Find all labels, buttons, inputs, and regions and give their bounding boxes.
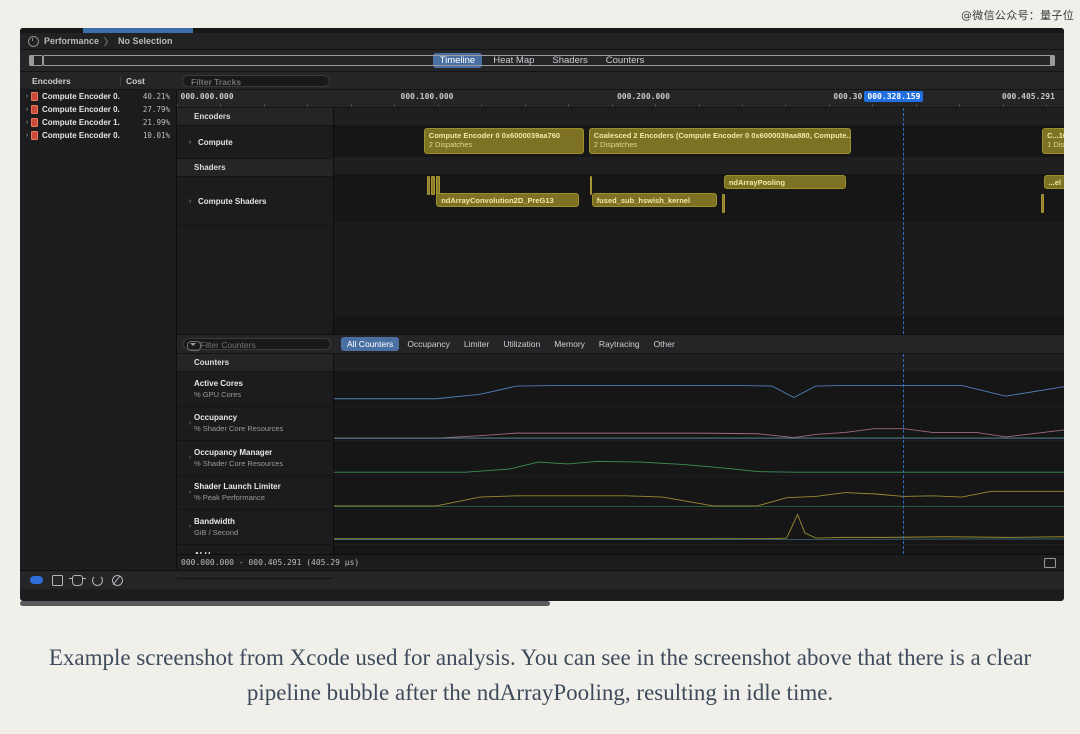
disclosure-icon[interactable]: ›: [186, 454, 194, 461]
shader-block-label: ...el: [1049, 178, 1064, 187]
shader-block-ndarraypooling[interactable]: ndArrayPooling: [724, 175, 847, 189]
encoder-row-0[interactable]: › Compute Encoder 0... 40.21%: [20, 90, 176, 103]
counter-unit: % Shader Core Resources: [194, 459, 283, 468]
timeline-canvas[interactable]: Compute Encoder 0 0x6000039aa760 2 Dispa…: [334, 108, 1064, 334]
shader-thin-bar[interactable]: [427, 176, 431, 195]
encoder-cost: 21.99%: [120, 118, 176, 127]
encoder-block-title: Compute Encoder 0 0x6000039aa760: [429, 131, 580, 140]
timeline-region: 000.000.000 000.100.000 000.200.000 000.…: [177, 90, 1064, 570]
track-group-encoders: Encoders: [177, 108, 333, 126]
counter-row-separator: [334, 406, 1064, 407]
counter-graph-bandwidth: [334, 509, 1064, 545]
counter-row-bandwidth[interactable]: › Bandwidth GiB / Second: [177, 510, 333, 545]
counter-unit: % GPU Cores: [194, 390, 241, 399]
track-label: Compute: [198, 138, 233, 147]
row-bg-encoders-group: [334, 108, 1064, 125]
counter-graph-occupancy: [334, 406, 1064, 442]
encoder-icon: [31, 92, 38, 101]
column-cost-label: Cost: [120, 76, 176, 86]
counter-row-occupancy-manager[interactable]: › Occupancy Manager % Shader Core Resour…: [177, 441, 333, 476]
encoders-column-header: Encoders Cost Filter Tracks: [20, 72, 1064, 90]
counter-row-active-cores[interactable]: Active Cores % GPU Cores: [177, 372, 333, 407]
xcode-window: Performance 〉 No Selection Timeline Heat…: [20, 28, 1064, 601]
breadcrumb-separator: 〉: [104, 35, 113, 48]
counter-graph-shader-launch-limiter: [334, 475, 1064, 511]
counter-row-separator: [334, 475, 1064, 476]
row-bg-empty: [334, 222, 1064, 316]
encoder-icon: [31, 105, 38, 114]
ruler-track[interactable]: 000.000.000 000.100.000 000.200.000 000.…: [177, 90, 1064, 107]
encoder-block-1[interactable]: Coalesced 2 Encoders (Compute Encoder 0 …: [589, 128, 851, 154]
disclosure-icon[interactable]: ›: [186, 489, 194, 496]
counter-row-separator: [334, 509, 1064, 510]
right-panel-icon[interactable]: [43, 55, 1055, 66]
encoder-row-3[interactable]: › Compute Encoder 0... 10.01%: [20, 129, 176, 142]
window-tab-strip: [20, 28, 1064, 33]
record-pill-icon[interactable]: [30, 576, 43, 584]
playhead-marker[interactable]: [903, 108, 905, 334]
counters-toolbar: Filter Counters All Counters Occupancy L…: [177, 334, 1064, 354]
stop-square-icon[interactable]: [52, 575, 63, 586]
time-ruler[interactable]: 000.000.000 000.100.000 000.200.000 000.…: [177, 90, 1064, 108]
encoder-cost: 40.21%: [120, 92, 176, 101]
counter-row-separator: [334, 544, 1064, 545]
encoder-block-title: Coalesced 2 Encoders (Compute Encoder 0 …: [594, 131, 846, 140]
shader-thin-bar[interactable]: [590, 176, 593, 195]
encoder-cost: 27.79%: [120, 105, 176, 114]
shader-block-label: ndArrayPooling: [729, 178, 842, 187]
shader-thin-bar[interactable]: [722, 194, 725, 213]
filter-counters-input[interactable]: Filter Counters: [183, 338, 331, 350]
ruler-ticks: [177, 103, 1064, 107]
filter-tracks-input[interactable]: Filter Tracks: [182, 75, 330, 87]
horizontal-scrollbar[interactable]: [20, 601, 1064, 607]
caption-line-1: Example screenshot from Xcode used for a…: [49, 645, 852, 670]
ruler-label-selected: 000.328.159: [864, 91, 923, 102]
counter-category-tabs: All Counters Occupancy Limiter Utilizati…: [341, 337, 681, 351]
counter-title: Active Cores: [194, 379, 243, 388]
scrollbar-thumb[interactable]: [20, 601, 550, 606]
encoder-row-1[interactable]: › Compute Encoder 0... 27.79%: [20, 103, 176, 116]
shader-thin-bar[interactable]: [431, 176, 435, 195]
counter-tab-limiter[interactable]: Limiter: [458, 337, 496, 351]
breadcrumb-leaf[interactable]: No Selection: [118, 36, 173, 46]
time-range-text: 000.000.000 - 000.405.291 (405.29 µs): [177, 558, 359, 567]
counter-tab-raytracing[interactable]: Raytracing: [593, 337, 646, 351]
counters-body: Counters Active Cores % GPU Cores › Occu…: [177, 354, 1064, 554]
shader-block-label: fused_sub_hswish_kernel: [597, 196, 713, 205]
encoder-name: Compute Encoder 1...: [42, 118, 120, 127]
encoder-block-subtitle: 2 Dispatches: [429, 140, 580, 149]
clock-icon: [28, 36, 39, 47]
ruler-label-1: 000.100.000: [401, 92, 454, 101]
encoder-row-2[interactable]: › Compute Encoder 1... 21.99%: [20, 116, 176, 129]
counter-title: Bandwidth: [194, 517, 235, 526]
document-icon[interactable]: [1044, 558, 1056, 568]
timeline-tracks: Encoders › Compute Shaders › Compute Sha…: [177, 108, 1064, 334]
encoder-cost: 10.01%: [120, 131, 176, 140]
counter-title: Occupancy: [194, 413, 237, 422]
disclosure-icon[interactable]: ›: [186, 420, 194, 427]
active-tab-indicator: [83, 28, 193, 33]
filter-tracks-wrap: Filter Tracks: [176, 75, 1064, 87]
breadcrumb: Performance 〉 No Selection: [20, 33, 1064, 50]
counter-graphs[interactable]: [334, 354, 1064, 554]
encoder-name: Compute Encoder 0...: [42, 105, 120, 114]
ruler-label-5: 000.405.291: [1002, 92, 1055, 101]
counter-tab-all[interactable]: All Counters: [341, 337, 399, 351]
counter-graph-active-cores: [334, 371, 1064, 407]
encoder-block-title: C...10: [1047, 131, 1064, 140]
counter-tab-utilization[interactable]: Utilization: [497, 337, 546, 351]
counter-unit: % Shader Core Resources: [194, 424, 283, 433]
counter-row-occupancy[interactable]: › Occupancy % Shader Core Resources: [177, 407, 333, 442]
no-entry-icon[interactable]: [112, 575, 123, 586]
view-toolbar: Timeline Heat Map Shaders Counters: [20, 50, 1064, 72]
counter-graph-header-bg: [334, 354, 1064, 371]
disclosure-icon[interactable]: ›: [186, 198, 194, 205]
status-bar: 000.000.000 - 000.405.291 (405.29 µs): [177, 554, 1064, 570]
shader-block-ndarrayconvolution2d[interactable]: ndArrayConvolution2D_PreG13: [436, 193, 578, 207]
counter-names: Counters Active Cores % GPU Cores › Occu…: [177, 354, 334, 554]
track-group-shaders: Shaders: [177, 159, 333, 177]
track-compute[interactable]: › Compute: [177, 126, 333, 159]
disclosure-icon[interactable]: ›: [186, 523, 194, 530]
debug-bug-icon[interactable]: [72, 575, 83, 586]
encoder-block-2[interactable]: C...10 1 Dis...: [1042, 128, 1064, 154]
disclosure-icon[interactable]: ›: [23, 93, 31, 100]
track-names: Encoders › Compute Shaders › Compute Sha…: [177, 108, 334, 334]
encoders-list: › Compute Encoder 0... 40.21% › Compute …: [20, 90, 177, 570]
ruler-label-0: 000.000.000: [181, 92, 234, 101]
counter-graph-alu: [334, 544, 1064, 555]
track-compute-shaders[interactable]: › Compute Shaders: [177, 177, 333, 226]
shader-block-truncated[interactable]: ...el: [1044, 175, 1064, 189]
filter-icon: [187, 341, 201, 351]
counter-row-shader-launch-limiter[interactable]: › Shader Launch Limiter % Peak Performan…: [177, 476, 333, 511]
counter-unit: % Peak Performance: [194, 493, 265, 502]
disclosure-icon[interactable]: ›: [23, 106, 31, 113]
figure-caption: Example screenshot from Xcode used for a…: [0, 640, 1080, 710]
disclosure-icon[interactable]: ›: [23, 119, 31, 126]
counter-title: Shader Launch Limiter: [194, 482, 281, 491]
encoder-name: Compute Encoder 0...: [42, 131, 120, 140]
shader-block-label: ndArrayConvolution2D_PreG13: [441, 196, 573, 205]
counter-unit: GiB / Second: [194, 528, 238, 537]
track-label: Compute Shaders: [198, 197, 266, 206]
encoder-icon: [31, 131, 38, 140]
shader-thin-bar[interactable]: [1041, 194, 1044, 213]
main-split: › Compute Encoder 0... 40.21% › Compute …: [20, 90, 1064, 570]
shader-block-fused-sub-hswish[interactable]: fused_sub_hswish_kernel: [592, 193, 718, 207]
track-names-filler: [177, 226, 333, 334]
ruler-label-3: 000.30: [833, 92, 862, 101]
counter-playhead[interactable]: [903, 354, 905, 554]
counter-tab-other[interactable]: Other: [648, 337, 681, 351]
refresh-icon[interactable]: [92, 575, 103, 586]
counter-graph-occupancy-manager: [334, 440, 1064, 476]
encoder-block-subtitle: 1 Dis...: [1047, 140, 1064, 149]
counter-row-separator: [334, 440, 1064, 441]
encoder-icon: [31, 118, 38, 127]
column-encoders-label: Encoders: [20, 76, 120, 86]
encoder-name: Compute Encoder 0...: [42, 92, 120, 101]
counter-title: Occupancy Manager: [194, 448, 272, 457]
counter-group-label: Counters: [177, 354, 333, 372]
ruler-label-2: 000.200.000: [617, 92, 670, 101]
watermark: @微信公众号：量子位: [961, 7, 1074, 23]
encoder-block-0[interactable]: Compute Encoder 0 0x6000039aa760 2 Dispa…: [424, 128, 585, 154]
disclosure-icon[interactable]: ›: [186, 139, 194, 146]
encoder-block-subtitle: 2 Dispatches: [594, 140, 846, 149]
filter-counters-placeholder: Filter Counters: [200, 340, 256, 350]
counter-tab-memory[interactable]: Memory: [548, 337, 591, 351]
row-bg-shaders-group: [334, 157, 1064, 174]
breadcrumb-root[interactable]: Performance: [44, 36, 99, 46]
disclosure-icon[interactable]: ›: [23, 132, 31, 139]
counter-tab-occupancy[interactable]: Occupancy: [401, 337, 456, 351]
